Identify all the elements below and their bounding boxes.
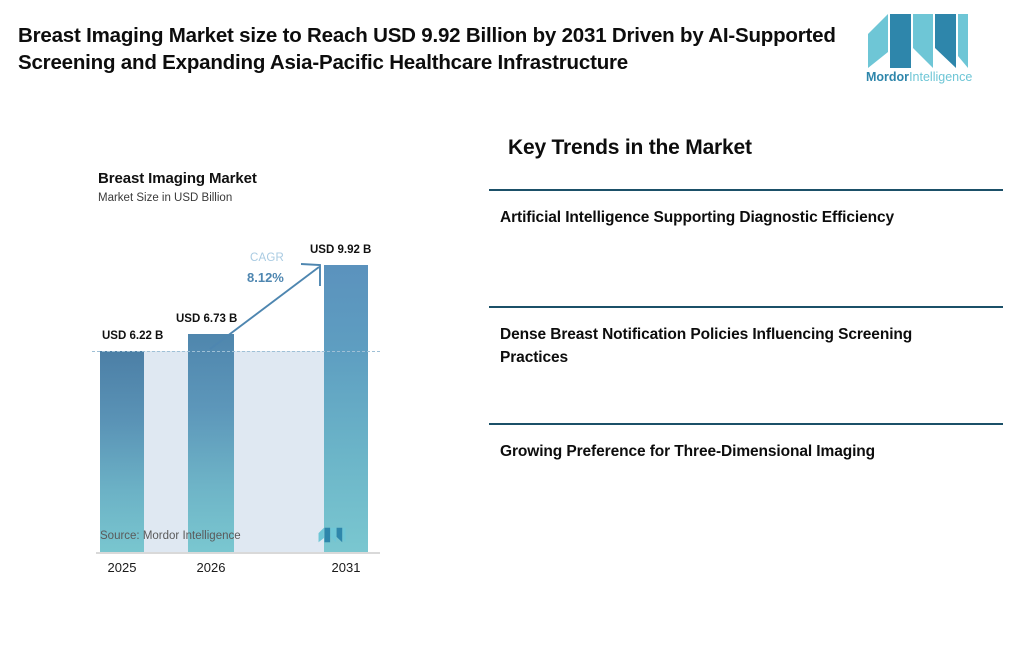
logo-word-mordor: Mordor — [866, 70, 909, 84]
trend-label-2: Dense Breast Notification Policies Influ… — [489, 323, 970, 369]
chart-plot-area: USD 6.22 B USD 6.73 B USD 9.92 B CAGR 8.… — [98, 245, 358, 653]
x-tick-2026: 2026 — [188, 560, 234, 575]
infographic-page: Breast Imaging Market size to Reach USD … — [0, 0, 1030, 565]
page-title: Breast Imaging Market size to Reach USD … — [18, 22, 848, 76]
logo-wordmark: MordorIntelligence — [866, 70, 970, 84]
mordor-intelligence-logo: MordorIntelligence — [866, 12, 976, 90]
chart-source: Source: Mordor Intelligence — [100, 530, 241, 542]
trend-divider-3 — [489, 423, 1003, 425]
chart-subtitle: Market Size in USD Billion — [98, 192, 232, 204]
growth-arrow-icon — [98, 245, 380, 565]
trend-divider-2 — [489, 306, 1003, 308]
chart-panel: Breast Imaging Market Market Size in USD… — [0, 160, 470, 560]
x-tick-2025: 2025 — [100, 560, 144, 575]
x-tick-2031: 2031 — [324, 560, 368, 575]
x-axis-line — [96, 552, 380, 554]
trend-item-3[interactable]: Growing Preference for Three-Dimensional… — [489, 423, 1004, 463]
key-trends-heading: Key Trends in the Market — [508, 136, 752, 160]
trend-label-3: Growing Preference for Three-Dimensional… — [489, 440, 970, 463]
trend-label-1: Artificial Intelligence Supporting Diagn… — [489, 206, 970, 229]
trend-divider-1 — [489, 189, 1003, 191]
trend-item-2[interactable]: Dense Breast Notification Policies Influ… — [489, 306, 1004, 369]
trend-item-1[interactable]: Artificial Intelligence Supporting Diagn… — [489, 189, 1004, 229]
logo-word-intelligence: Intelligence — [909, 70, 972, 84]
source-mordor-logo-icon — [318, 526, 346, 544]
chart-title: Breast Imaging Market — [98, 170, 257, 187]
mordor-logo-mark — [866, 12, 970, 70]
